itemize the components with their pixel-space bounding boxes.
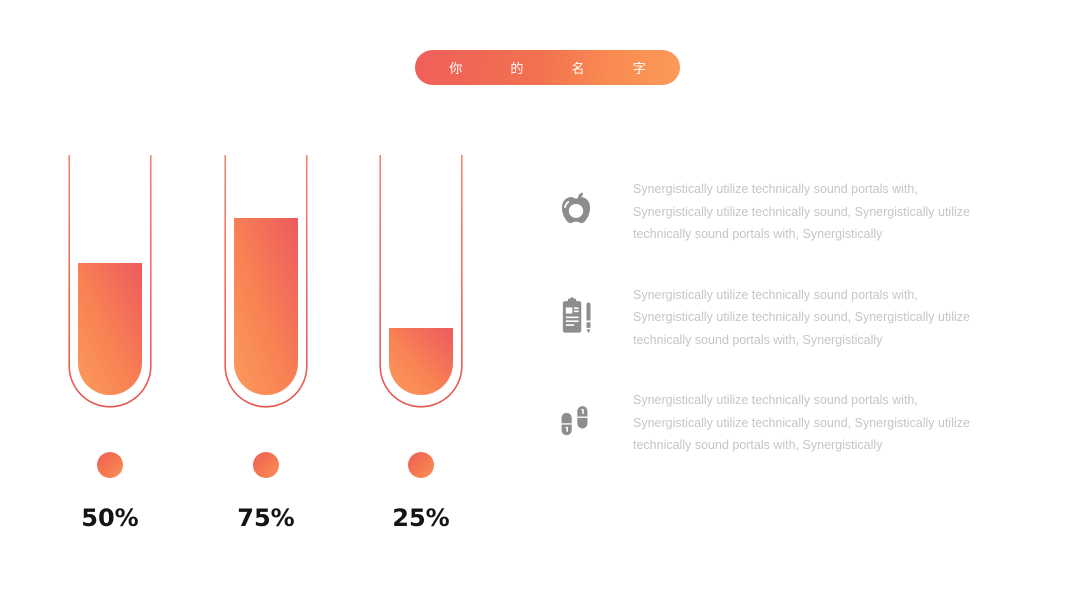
clipboard-pen-icon — [552, 292, 600, 340]
tube-dot-2 — [253, 452, 279, 478]
tube-graphic-3 — [378, 150, 464, 412]
legend-item-3[interactable]: Synergistically utilize technically soun… — [552, 389, 1022, 457]
capsule-pills-icon — [552, 397, 600, 445]
tube-label-2: 75% — [206, 504, 326, 532]
tube-column-1[interactable] — [67, 150, 153, 412]
tube-column-3[interactable] — [378, 150, 464, 412]
legend-item-2[interactable]: Synergistically utilize technically soun… — [552, 284, 1022, 352]
tube-label-1: 50% — [50, 504, 170, 532]
legend-item-1[interactable]: Synergistically utilize technically soun… — [552, 178, 1022, 246]
tube-label-3: 25% — [361, 504, 481, 532]
test-tube-chart: 50% 75% — [0, 0, 544, 612]
apple-heart-icon — [552, 186, 600, 234]
legend-text-3: Synergistically utilize technically soun… — [633, 389, 978, 457]
tube-dot-1 — [97, 452, 123, 478]
legend-text-2: Synergistically utilize technically soun… — [633, 284, 978, 352]
tube-dot-3 — [408, 452, 434, 478]
tube-graphic-1 — [67, 150, 153, 412]
legend-list: Synergistically utilize technically soun… — [552, 178, 1022, 495]
tube-column-2[interactable] — [223, 150, 309, 412]
tube-graphic-2 — [223, 150, 309, 412]
legend-text-1: Synergistically utilize technically soun… — [633, 178, 978, 246]
